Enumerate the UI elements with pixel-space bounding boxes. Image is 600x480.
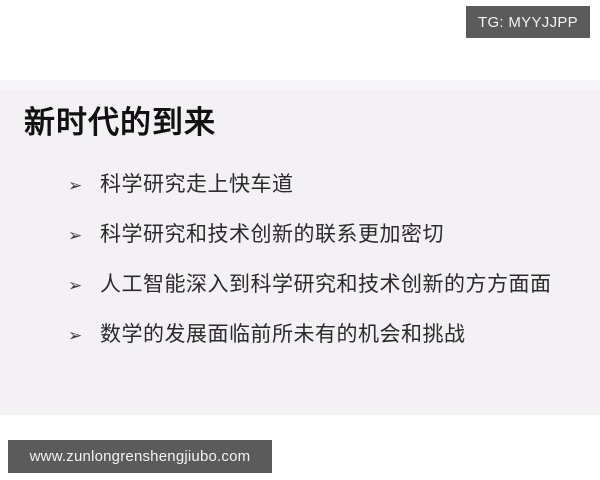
list-item: ➢ 人工智能深入到科学研究和技术创新的方方面面 — [68, 272, 588, 322]
telegram-channel-label: TG: MYYJJPP — [478, 14, 578, 31]
presentation-slide: 新时代的到来 ➢ 科学研究走上快车道 ➢ 科学研究和技术创新的联系更加密切 ➢ … — [0, 80, 600, 415]
list-item-label: 科学研究走上快车道 — [100, 172, 294, 198]
arrow-bullet-icon: ➢ — [68, 222, 100, 249]
list-item-label: 科学研究和技术创新的联系更加密切 — [100, 222, 444, 248]
list-item: ➢ 数学的发展面临前所未有的机会和挑战 — [68, 322, 588, 372]
slide-title: 新时代的到来 — [24, 106, 216, 140]
telegram-channel-badge: TG: MYYJJPP — [466, 6, 590, 38]
arrow-bullet-icon: ➢ — [68, 172, 100, 199]
arrow-bullet-icon: ➢ — [68, 322, 100, 349]
slide-top-band — [0, 80, 600, 90]
list-item-label: 数学的发展面临前所未有的机会和挑战 — [100, 322, 466, 348]
list-item-label: 人工智能深入到科学研究和技术创新的方方面面 — [100, 272, 552, 298]
slide-bullet-list: ➢ 科学研究走上快车道 ➢ 科学研究和技术创新的联系更加密切 ➢ 人工智能深入到… — [68, 172, 588, 372]
site-watermark: www.zunlongrenshengjiubo.com — [8, 440, 272, 473]
list-item: ➢ 科学研究和技术创新的联系更加密切 — [68, 222, 588, 272]
site-watermark-url: www.zunlongrenshengjiubo.com — [30, 448, 251, 465]
list-item: ➢ 科学研究走上快车道 — [68, 172, 588, 222]
arrow-bullet-icon: ➢ — [68, 272, 100, 299]
